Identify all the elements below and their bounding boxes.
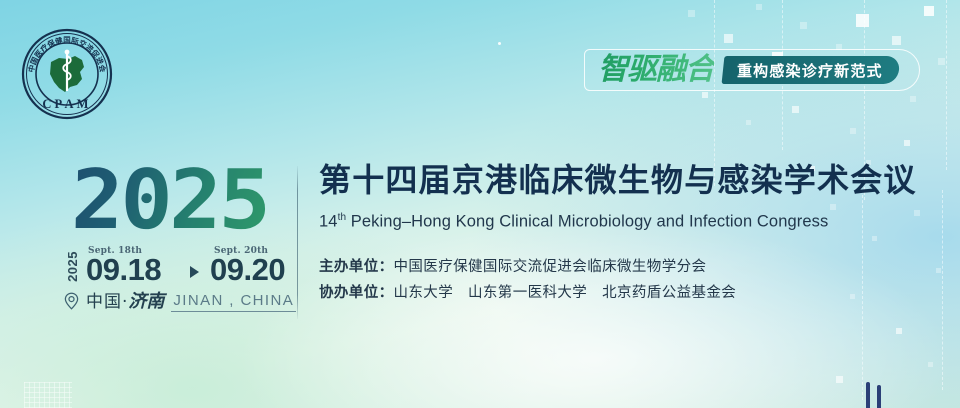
date-block: 2025 Sept. 18th 09.18 Sept. 20th 09.20 <box>66 246 298 290</box>
date-start-value: 09.18 <box>86 254 161 285</box>
organizer-row: 协办单位： 山东大学 山东第一医科大学 北京药盾公益基金会 <box>319 280 939 306</box>
location-cn-country: 中国 <box>86 292 122 312</box>
year-headline: 2025 <box>70 160 268 242</box>
slogan-sub-text: 重构感染诊疗新范式 <box>737 59 883 80</box>
cpam-logo: 中国医疗保健国际交流促进会 CPAM <box>21 28 113 120</box>
location-cn: 中国·济南 <box>86 292 164 312</box>
slogan-main-text: 智驱融合 <box>592 50 714 90</box>
conference-banner: 中国医疗保健国际交流促进会 CPAM 智驱融合 重构感染诊疗新范式 2025 2… <box>0 0 960 408</box>
logo-acronym: CPAM <box>42 97 91 111</box>
organizers-block: 主办单位： 中国医疗保健国际交流促进会临床微生物学分会 协办单位： 山东大学 山… <box>319 254 939 306</box>
pixel-decoration-bottom-left <box>24 382 72 408</box>
subtitle-ordinal-suffix: th <box>338 212 347 223</box>
slogan-group: 智驱融合 重构感染诊疗新范式 <box>592 47 899 92</box>
page-subtitle: 14th Peking–Hong Kong Clinical Microbiol… <box>319 208 939 232</box>
date-range-arrow-icon <box>190 266 199 278</box>
organizer-value: 山东大学 山东第一医科大学 北京药盾公益基金会 <box>394 280 737 306</box>
date-year-vertical: 2025 <box>66 251 79 282</box>
organizer-row: 主办单位： 中国医疗保健国际交流促进会临床微生物学分会 <box>319 254 939 280</box>
organizer-label: 主办单位： <box>319 254 394 280</box>
location-row: 中国·济南 JINAN , CHINA <box>64 292 296 312</box>
organizer-label: 协办单位： <box>319 280 394 306</box>
location-pin-icon <box>64 292 79 310</box>
page-title: 第十四届京港临床微生物与感染学术会议 <box>319 160 939 200</box>
location-cn-city: 济南 <box>128 291 164 312</box>
slogan-ribbon: 重构感染诊疗新范式 <box>722 56 901 84</box>
vertical-divider <box>297 166 298 319</box>
location-en: JINAN , CHINA <box>171 292 296 312</box>
subtitle-rest: Peking–Hong Kong Clinical Microbiology a… <box>346 213 828 231</box>
city-skyline-silhouette-left <box>866 382 870 408</box>
conference-info: 第十四届京港临床微生物与感染学术会议 14th Peking–Hong Kong… <box>319 160 939 306</box>
subtitle-ordinal: 14 <box>319 213 338 231</box>
organizer-value: 中国医疗保健国际交流促进会临床微生物学分会 <box>394 254 707 280</box>
slogan-accent-dot <box>498 42 501 45</box>
city-skyline-silhouette-right <box>877 385 881 408</box>
date-end-value: 09.20 <box>210 254 285 285</box>
